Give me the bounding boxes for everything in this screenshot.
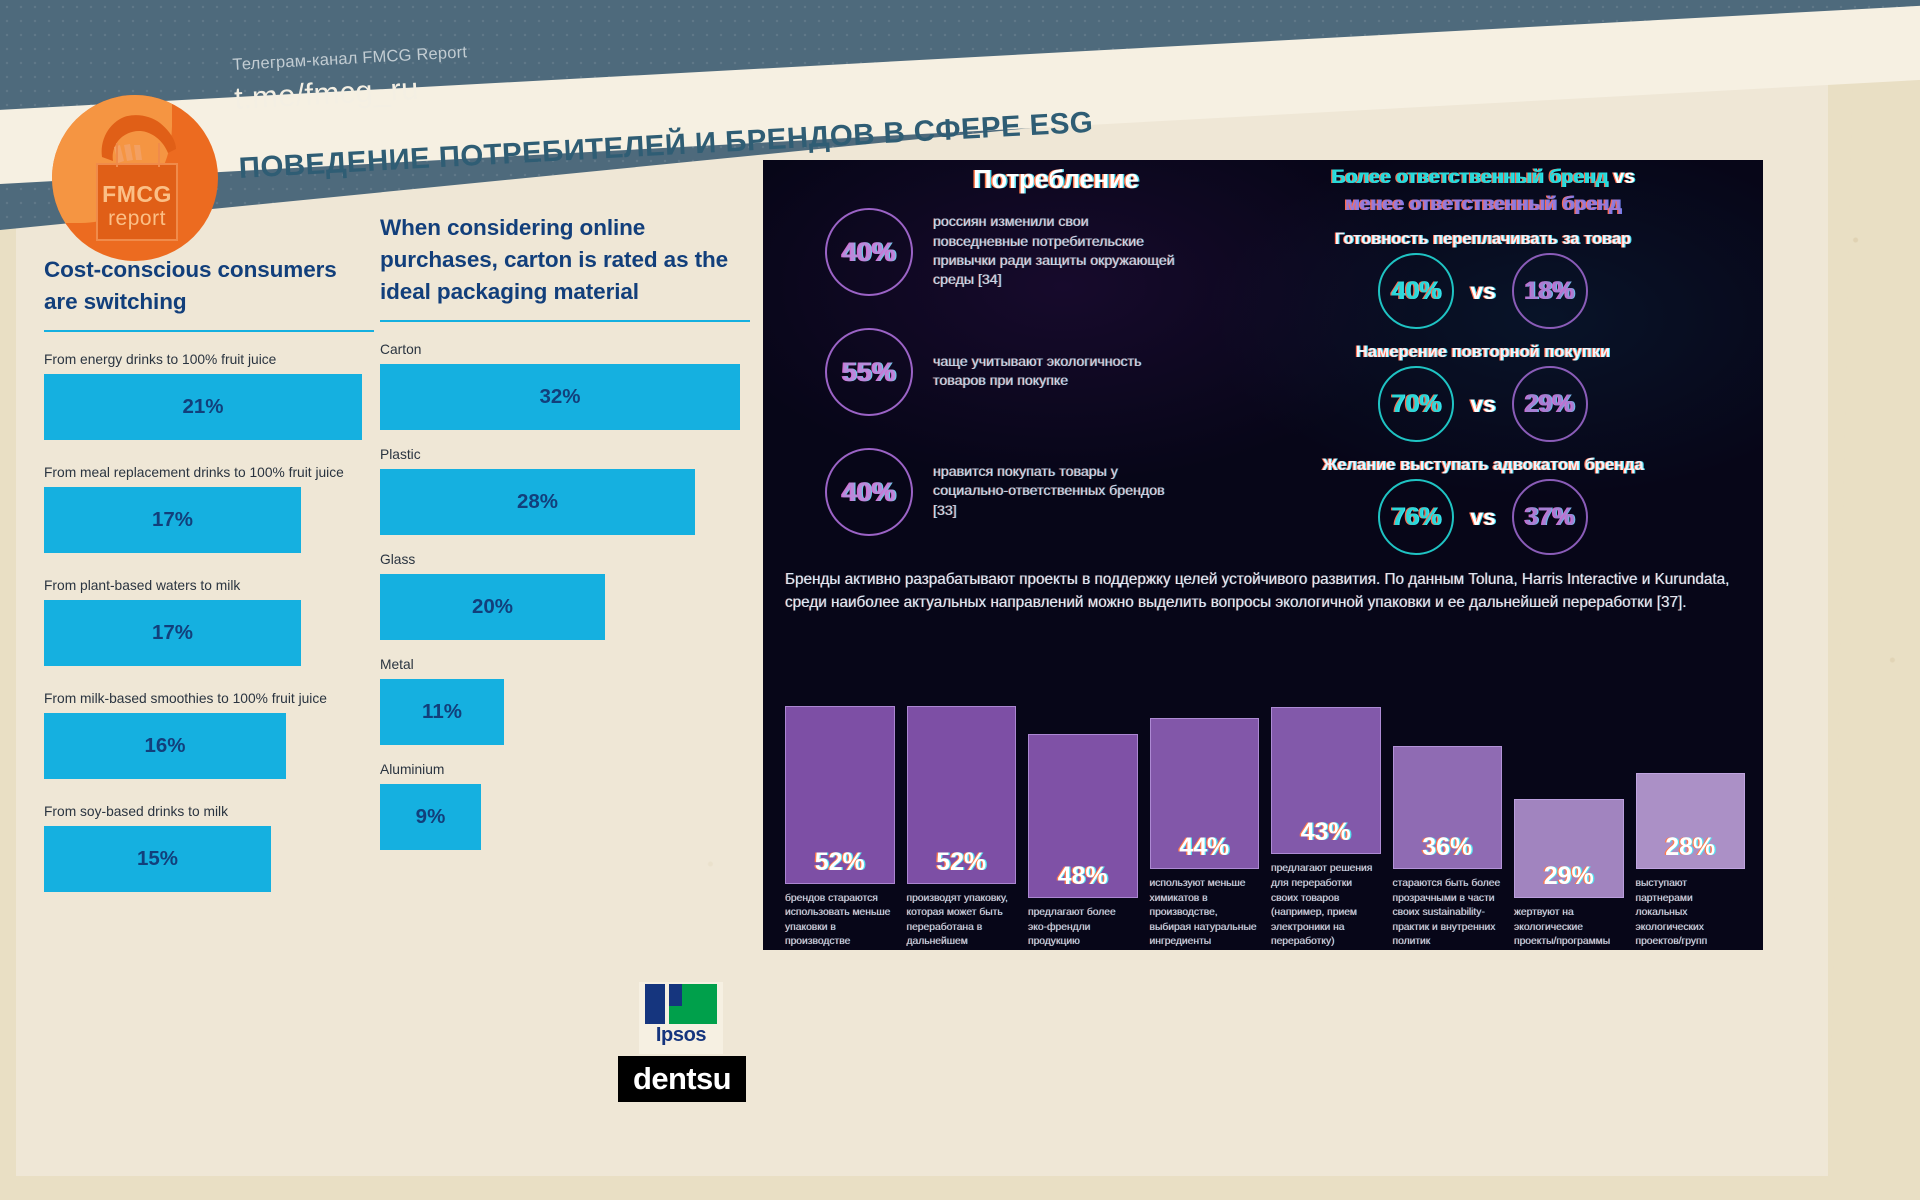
bar: 28% xyxy=(1636,773,1746,869)
vs-row-label: Намерение повторной покупки xyxy=(1203,343,1763,362)
bar: 52% xyxy=(907,706,1017,884)
esg-dark-panel: Потребление 40%россиян изменили свои пов… xyxy=(763,160,1763,950)
right-edge-strip xyxy=(1828,0,1920,1200)
bar-value: 52% xyxy=(815,848,865,877)
bar-group: Plastic28% xyxy=(380,447,750,535)
bar-value: 28% xyxy=(1665,833,1715,862)
bar-caption: производят упаковку, которая может быть … xyxy=(907,892,1017,950)
bar-label: From energy drinks to 100% fruit juice xyxy=(44,352,374,367)
bar: 29% xyxy=(1514,799,1624,898)
bar-column: 48%предлагают более эко-френдли продукци… xyxy=(1028,660,1138,950)
bar-caption: выступают партнерами локальных экологиче… xyxy=(1636,877,1746,950)
bar-label: Plastic xyxy=(380,447,750,462)
bar: 32% xyxy=(380,364,740,430)
bar-value: 28% xyxy=(517,490,558,514)
vs-row-pair: 70%vs29% xyxy=(1203,366,1763,442)
chart-cost-conscious: Cost-conscious consumers are switching F… xyxy=(44,254,374,917)
vs-value-less-responsible: 18% xyxy=(1512,253,1588,329)
bar-column: 36%стараются быть более прозрачными в ча… xyxy=(1393,660,1503,950)
bar-group: From meal replacement drinks to 100% fru… xyxy=(44,465,374,553)
bar-value: 17% xyxy=(152,621,193,645)
chart-b-title: When considering online purchases, carto… xyxy=(380,212,750,308)
bar-value: 11% xyxy=(422,700,462,724)
bar-group: Glass20% xyxy=(380,552,750,640)
bar-column: 52%производят упаковку, которая может бы… xyxy=(907,660,1017,950)
bar-label: Glass xyxy=(380,552,750,567)
bar: 11% xyxy=(380,679,504,745)
bar: 16% xyxy=(44,713,286,779)
bar-column: 43%предлагают решения для переработки св… xyxy=(1271,660,1381,950)
bar-group: Aluminium9% xyxy=(380,762,750,850)
vs-row-label: Желание выступать адвокатом бренда xyxy=(1203,456,1763,475)
bar-group: Carton32% xyxy=(380,342,750,430)
bar: 20% xyxy=(380,574,605,640)
ipsos-logo: Ipsos xyxy=(639,982,723,1054)
vs-heading-main: Более ответственный бренд xyxy=(1331,166,1608,188)
stat-circle-value: 40% xyxy=(825,448,913,536)
bar-label: From plant-based waters to milk xyxy=(44,578,374,593)
vs-rows: Готовность переплачивать за товар40%vs18… xyxy=(1203,230,1763,555)
bar-value: 32% xyxy=(539,385,580,409)
vs-separator: vs xyxy=(1470,391,1496,418)
bar-value: 36% xyxy=(1422,833,1472,862)
bar-label: Metal xyxy=(380,657,750,672)
bar-group: From soy-based drinks to milk15% xyxy=(44,804,374,892)
bar-caption: жертвуют на экологические проекты/програ… xyxy=(1514,906,1624,950)
bar-value: 43% xyxy=(1301,818,1351,847)
bar-value: 17% xyxy=(152,508,193,532)
stat-description: нравится покупать товары у социально-отв… xyxy=(933,463,1185,521)
bar: 17% xyxy=(44,600,301,666)
vs-value-responsible: 40% xyxy=(1378,253,1454,329)
bar-column: 29%жертвуют на экологические проекты/про… xyxy=(1514,660,1624,950)
vs-row-pair: 76%vs37% xyxy=(1203,479,1763,555)
bar-caption: предлагают решения для переработки своих… xyxy=(1271,862,1381,950)
consumption-stat-row: 40%россиян изменили свои повседневные по… xyxy=(825,208,1185,296)
bar-label: Aluminium xyxy=(380,762,750,777)
vs-value-responsible: 76% xyxy=(1378,479,1454,555)
bar-value: 48% xyxy=(1058,862,1108,891)
stat-circle-value: 55% xyxy=(825,328,913,416)
bar-column: 28%выступают партнерами локальных эколог… xyxy=(1636,660,1746,950)
vs-row-label: Готовность переплачивать за товар xyxy=(1203,230,1763,249)
bar-value: 9% xyxy=(416,805,446,829)
vs-separator: vs xyxy=(1470,504,1496,531)
bar-caption: стараются быть более прозрачными в части… xyxy=(1393,877,1503,950)
bar-caption: используют меньше химикатов в производст… xyxy=(1150,877,1260,950)
bar-value: 29% xyxy=(1544,862,1594,891)
ipsos-mark-overlap xyxy=(669,984,682,1006)
stat-description: россиян изменили свои повседневные потре… xyxy=(933,213,1185,290)
telegram-block: Телеграм-канал FMCG Report t.me/fmcg_ru xyxy=(232,43,470,117)
bar-value: 21% xyxy=(182,395,223,419)
chart-a-title: Cost-conscious consumers are switching xyxy=(44,254,374,318)
bar: 44% xyxy=(1150,718,1260,869)
bar-group: Metal11% xyxy=(380,657,750,745)
slide-root: Телеграм-канал FMCG Report t.me/fmcg_ru … xyxy=(0,0,1920,1200)
sustainability-paragraph: Бренды активно разрабатывают проекты в п… xyxy=(785,568,1740,615)
bar-group: From milk-based smoothies to 100% fruit … xyxy=(44,691,374,779)
bar-label: From meal replacement drinks to 100% fru… xyxy=(44,465,374,480)
bar-value: 16% xyxy=(144,734,185,758)
bar-value: 15% xyxy=(137,847,178,871)
bar: 48% xyxy=(1028,734,1138,898)
bottom-edge-strip xyxy=(0,1176,1920,1200)
stat-description: чаще учитывают экологичность товаров при… xyxy=(933,353,1185,392)
bar: 17% xyxy=(44,487,301,553)
bar-label: From milk-based smoothies to 100% fruit … xyxy=(44,691,374,706)
vs-value-less-responsible: 29% xyxy=(1512,366,1588,442)
brand-initiatives-bar-chart: 52%брендов стараются использовать меньше… xyxy=(785,660,1745,950)
vs-heading-suffix: vs xyxy=(1608,166,1635,188)
dentsu-logo: dentsu xyxy=(618,1056,746,1102)
chart-b-bars: Carton32%Plastic28%Glass20%Metal11%Alumi… xyxy=(380,342,750,850)
stat-circle-value: 40% xyxy=(825,208,913,296)
bar-label: Carton xyxy=(380,342,750,357)
vs-value-less-responsible: 37% xyxy=(1512,479,1588,555)
bar-label: From soy-based drinks to milk xyxy=(44,804,374,819)
consumption-stat-row: 55%чаще учитывают экологичность товаров … xyxy=(825,328,1185,416)
brand-comparison-block: Более ответственный бренд vs менее ответ… xyxy=(1203,166,1763,555)
vs-heading-line2: менее ответственный бренд xyxy=(1203,193,1763,216)
vs-row-pair: 40%vs18% xyxy=(1203,253,1763,329)
bar: 36% xyxy=(1393,746,1503,869)
bar-value: 44% xyxy=(1179,833,1229,862)
chart-packaging-material: When considering online purchases, carto… xyxy=(380,212,750,867)
vs-value-responsible: 70% xyxy=(1378,366,1454,442)
bar: 28% xyxy=(380,469,695,535)
bar-value: 52% xyxy=(936,848,986,877)
vs-separator: vs xyxy=(1470,278,1496,305)
ipsos-mark-left xyxy=(645,984,665,1024)
consumption-stat-row: 40%нравится покупать товары у социально-… xyxy=(825,448,1185,536)
chart-a-bars: From energy drinks to 100% fruit juice21… xyxy=(44,352,374,892)
ipsos-wordmark: Ipsos xyxy=(639,1024,723,1047)
right-edge-strip-inner xyxy=(1828,0,1920,1200)
bar-caption: брендов стараются использовать меньше уп… xyxy=(785,892,895,950)
bar: 21% xyxy=(44,374,362,440)
bar: 43% xyxy=(1271,707,1381,854)
bar: 9% xyxy=(380,784,481,850)
bar: 52% xyxy=(785,706,895,884)
bar-column: 52%брендов стараются использовать меньше… xyxy=(785,660,895,950)
bar-column: 44%используют меньше химикатов в произво… xyxy=(1150,660,1260,950)
vs-heading-line1: Более ответственный бренд vs xyxy=(1203,166,1763,189)
dark-panel-title: Потребление xyxy=(906,166,1206,195)
bar-group: From plant-based waters to milk17% xyxy=(44,578,374,666)
bar-caption: предлагают более эко-френдли продукцию xyxy=(1028,906,1138,950)
bar-value: 20% xyxy=(472,595,513,619)
bar: 15% xyxy=(44,826,271,892)
bar-group: From energy drinks to 100% fruit juice21… xyxy=(44,352,374,440)
